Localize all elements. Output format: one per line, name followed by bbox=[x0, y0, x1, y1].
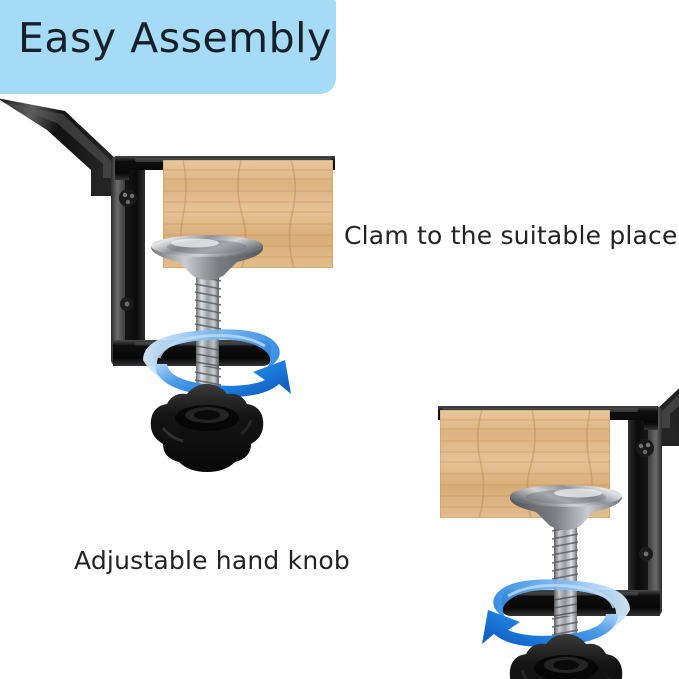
caption-clamp-placement: Clam to the suitable place bbox=[344, 221, 678, 250]
pressure-pad-icon bbox=[151, 235, 263, 280]
clamp-assembly-top-left bbox=[55, 108, 355, 438]
bracket-lower-arm-overlay bbox=[113, 340, 271, 366]
banner-title: Easy Assembly bbox=[18, 18, 332, 59]
mount-tube-icon bbox=[0, 98, 117, 196]
caption-hand-knob: Adjustable hand knob bbox=[74, 546, 350, 575]
clamp-assembly-bottom-right bbox=[418, 358, 679, 679]
bracket-lower-arm-overlay bbox=[502, 590, 660, 616]
hand-knob-icon bbox=[151, 384, 264, 472]
pressure-pad-icon bbox=[510, 485, 622, 530]
illustration-canvas: Easy Assembly Clam to the suitable place… bbox=[0, 0, 679, 679]
easy-assembly-banner: Easy Assembly bbox=[0, 0, 336, 94]
